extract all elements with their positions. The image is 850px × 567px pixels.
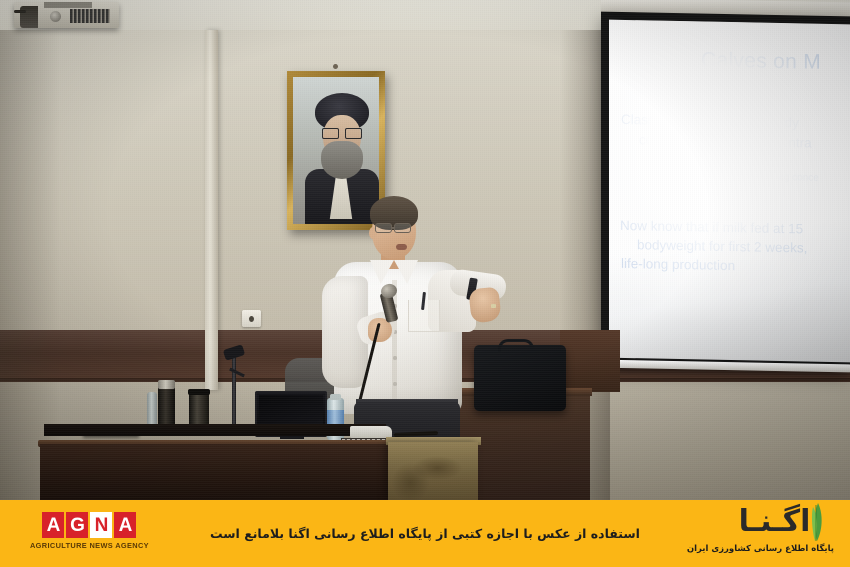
wall-outlet-hole: [249, 316, 254, 322]
agna-persian-mark: اگـنـا: [696, 505, 824, 543]
photograph: Calves on M Classically milk at 8% of bo…: [0, 0, 850, 500]
projector-mount: [44, 2, 92, 8]
agna-logo-left[interactable]: A G N A AGRICULTURE NEWS AGENCY: [30, 512, 149, 550]
wall-column: [205, 30, 218, 390]
portrait-glasses-icon: [322, 128, 362, 137]
tumbler-lid: [188, 389, 210, 395]
agna-letter-a2: A: [114, 512, 136, 538]
projector-icon: [14, 2, 119, 28]
screen-surface: Calves on M Classically milk at 8% of bo…: [609, 20, 850, 363]
picture-nail: [333, 64, 338, 69]
microphone-stand: [232, 355, 236, 435]
agna-letter-a1: A: [42, 512, 64, 538]
agna-persian-tagline: پایگاه اطلاع رسانی کشاورزی ایران: [687, 544, 834, 554]
slide-line-3: wean when consuming 1 kg conce: [666, 169, 819, 186]
slide-line-6: life-long production: [621, 254, 735, 275]
agna-letter-n: N: [90, 512, 112, 538]
screenshot-root: Calves on M Classically milk at 8% of bo…: [0, 0, 850, 567]
projector-lens: [50, 11, 61, 22]
bench-back: [560, 330, 620, 392]
finger-ring: [491, 304, 496, 308]
shirt-button: [393, 382, 397, 386]
thermos-cap: [158, 380, 175, 389]
desk-front-panel: [40, 444, 388, 500]
agna-letter-boxes: A G N A: [42, 512, 136, 538]
presentation-slide: Calves on M Classically milk at 8% of bo…: [609, 20, 850, 363]
slide-title: Calves on M: [701, 48, 821, 74]
agna-tagline: AGRICULTURE NEWS AGENCY: [30, 541, 149, 550]
eyeglasses-icon: [375, 223, 392, 233]
agna-letter-g: G: [66, 512, 88, 538]
leaf-icon: [804, 501, 824, 543]
podium: [388, 442, 478, 500]
water-bottle-label: [327, 410, 344, 424]
projector-wire: [14, 10, 26, 13]
slide-line-2: consuming 1 kg of concentra: [639, 130, 812, 152]
speaker-mouth: [396, 244, 407, 250]
podium-wood-grain: [388, 442, 478, 500]
slide-line-1: Classically milk at 8% of body: [621, 110, 799, 132]
projector-vent: [70, 9, 110, 23]
shirt-button: [393, 356, 397, 360]
speaker-right-hand: [468, 287, 501, 324]
agna-persian-script: اگـنـا: [739, 503, 811, 541]
projection-screen: Calves on M Classically milk at 8% of bo…: [601, 14, 850, 386]
water-bottle-cap: [330, 394, 341, 400]
eyeglasses-icon: [394, 223, 411, 233]
desk-surface: [44, 424, 386, 436]
portrait-beard: [321, 141, 363, 179]
agna-logo-right[interactable]: اگـنـا پایگاه اطلاع رسانی کشاورزی ایران: [687, 505, 834, 554]
eyeglasses-bridge: [392, 227, 395, 229]
